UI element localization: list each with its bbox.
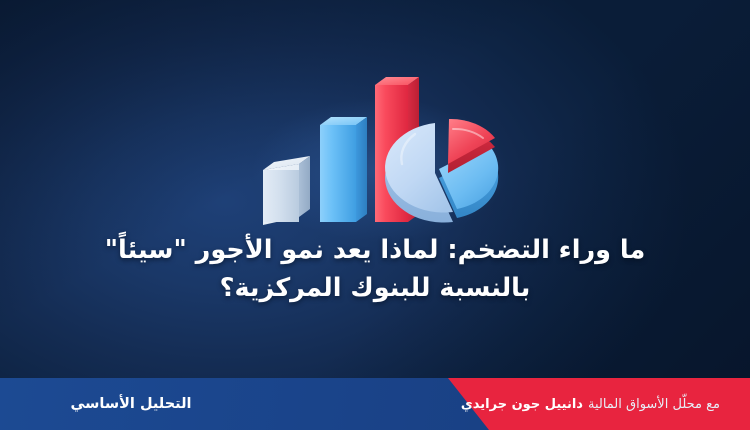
chart-illustration [252,72,520,237]
author-name: دانييل جون جرايدي [461,397,583,412]
category-badge: التحليل الأساسي [0,378,262,430]
bar-2-blue [320,117,367,222]
author-credit: مع محلّل الأسواق المالية دانييل جون جراي… [461,378,720,430]
headline: ما وراء التضخم: لماذا يعد نمو الأجور "سي… [0,232,750,307]
cover-image: ما وراء التضخم: لماذا يعد نمو الأجور "سي… [0,0,750,430]
bar-1-gray [263,156,310,225]
footer-bar: مع محلّل الأسواق المالية دانييل جون جراي… [0,378,750,430]
category-label: التحليل الأساسي [71,396,192,412]
headline-line-2: بالنسبة للبنوك المركزية؟ [0,270,750,307]
headline-line-1: ما وراء التضخم: لماذا يعد نمو الأجور "سي… [0,232,750,269]
author-prefix: مع محلّل الأسواق المالية [588,397,720,412]
